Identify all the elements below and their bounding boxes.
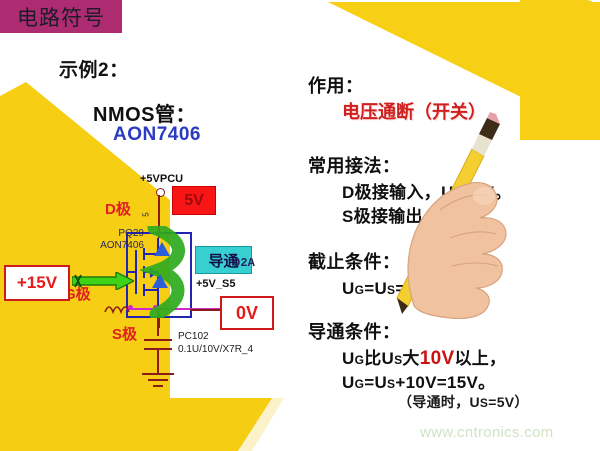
on3-sub: S: [480, 396, 488, 410]
label-drain: D极: [105, 198, 131, 219]
conduction-heading: 导通条件：: [308, 318, 401, 344]
page-title: 电路符号: [17, 2, 105, 32]
on2-eq: =: [364, 373, 374, 392]
cut-sub1: G: [355, 283, 365, 297]
cutoff-heading: 截止条件：: [308, 248, 401, 274]
usage1-u: U: [441, 183, 454, 202]
cutoff-line-1: UG=US=0V。: [342, 274, 444, 299]
conduction-note: （导通时，US=5V）: [398, 392, 529, 412]
watermark: www.cntronics.com: [420, 424, 553, 441]
on3-close: =5V）: [488, 394, 529, 410]
on2-val: +10V=15V。: [395, 373, 495, 392]
on1-tail: 以上，: [454, 349, 506, 368]
inductor-squiggle-icon: [104, 300, 130, 314]
voltage-box-0v: 0V: [220, 296, 274, 330]
on1-threshold: 10V: [420, 348, 455, 369]
nmos-title: NMOS管：: [93, 98, 196, 127]
usage-line-1: D极接输入，UD=5V。: [342, 178, 512, 203]
on1-bi: 比: [364, 349, 381, 368]
usage1-sub: D: [454, 187, 463, 201]
on2-u2: U: [374, 373, 387, 392]
conduction-line-1: UG比US大10V以上，: [342, 344, 506, 370]
cap-value-text: 0.1U/10V/X7R_4: [178, 344, 253, 355]
usage-heading: 常用接法：: [308, 152, 401, 178]
on3-open: （导通时，: [398, 394, 470, 410]
circuit-schematic: +5VPCU 5V D极 5 PQ29 AON7406: [0, 168, 300, 418]
gate-arrow-icon: [72, 272, 134, 290]
on2-sub1: G: [355, 377, 365, 391]
on1-u2: U: [382, 349, 395, 368]
usage1-text: 极接输入，: [355, 183, 442, 202]
cut-val: =0V。: [395, 279, 444, 298]
usage2-text: 极接输出。: [354, 207, 441, 226]
capacitor-ground-symbol: [134, 334, 182, 396]
role-heading: 作用：: [308, 72, 364, 98]
cap-ref-text: PC102: [178, 331, 209, 342]
example-label: 示例2：: [59, 55, 129, 82]
on2-u1: U: [342, 373, 355, 392]
on3-u: U: [470, 394, 480, 410]
usage2-s: S: [342, 207, 354, 226]
voltage-box-5v: 5V: [172, 186, 216, 215]
page-title-tag: 电路符号: [0, 0, 122, 33]
net-label-5v-s5: +5V_S5: [196, 278, 235, 290]
on1-u1: U: [342, 349, 355, 368]
on1-da: 大: [402, 349, 419, 368]
voltage-box-15v: +15V: [4, 265, 70, 301]
on1-sub1: G: [355, 353, 365, 367]
nmos-part-number: AON7406: [113, 124, 201, 146]
capacitor-label: PC102 0.1U/10V/X7R_4: [178, 330, 253, 356]
pin-number-drain: 5: [142, 212, 151, 216]
usage1-val: =5V。: [463, 183, 512, 202]
usage-line-2: S极接输出。: [342, 202, 440, 227]
cut-eq: =: [364, 279, 374, 298]
conduction-line-2: UG=US+10V=15V。: [342, 368, 495, 393]
current-path-swoosh-icon: [140, 226, 200, 318]
cut-u2: U: [374, 279, 387, 298]
slide-canvas: 电路符号 示例2： NMOS管： AON7406 +5VPCU 5V D极 5 …: [0, 0, 600, 451]
explanation-panel: 作用： 电压通断（开关） 常用接法： D极接输入，UD=5V。 S极接输出。 截…: [302, 0, 600, 451]
net-label-5vpcu: +5VPCU: [140, 173, 183, 185]
usage1-d: D: [342, 183, 355, 202]
cut-u1: U: [342, 279, 355, 298]
role-value: 电压通断（开关）: [342, 98, 486, 124]
current-value: .02A: [226, 256, 255, 270]
